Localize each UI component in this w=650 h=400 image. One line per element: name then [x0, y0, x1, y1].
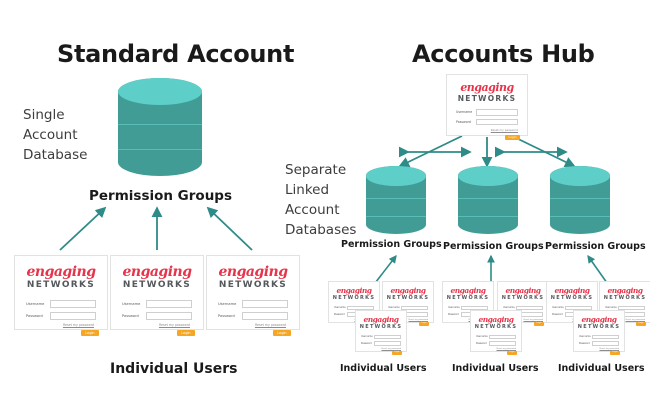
logo-engaging: engaging: [26, 265, 95, 279]
username-label: Username: [605, 306, 618, 309]
arrow-left-users-to-groups: [60, 208, 252, 250]
logo-networks: NETWORKS: [333, 296, 376, 301]
username-label: Username: [122, 302, 146, 306]
password-label: Password: [361, 342, 374, 345]
logo-networks: NETWORKS: [27, 281, 95, 290]
username-label: Username: [334, 306, 347, 309]
database-cylinder-hub: [550, 166, 610, 234]
login-form: Username Password Reset my password: [215, 300, 291, 327]
username-input[interactable]: [146, 300, 192, 308]
cylinder-band: [458, 198, 518, 199]
logo-networks: NETWORKS: [123, 281, 191, 290]
logo-networks: NETWORKS: [551, 296, 594, 301]
username-label: Username: [456, 110, 476, 114]
password-input[interactable]: [592, 341, 619, 346]
logo-engaging: engaging: [122, 265, 191, 279]
hub-login-card[interactable]: engaging NETWORKS Username Password Rese…: [446, 74, 528, 136]
logo-networks: NETWORKS: [458, 95, 517, 103]
logo-engaging: engaging: [505, 287, 540, 295]
password-label: Password: [552, 313, 565, 316]
reset-password-link[interactable]: Reset my password: [26, 323, 96, 327]
username-row: Username: [218, 300, 288, 308]
password-input[interactable]: [146, 312, 192, 320]
login-button[interactable]: Login: [177, 330, 195, 336]
login-form: Username Password Reset my password: [119, 300, 195, 327]
diagram-canvas: Standard Account Accounts Hub Single Acc…: [0, 0, 650, 400]
cylinder-band: [366, 216, 426, 217]
login-card[interactable]: engaging NETWORKS Username Password Rese…: [206, 255, 300, 330]
username-input[interactable]: [592, 335, 619, 340]
logo-engaging: engaging: [478, 316, 513, 324]
password-label: Password: [218, 314, 242, 318]
reset-password-link[interactable]: Reset my password: [218, 323, 288, 327]
logo-engaging: engaging: [363, 316, 398, 324]
label-individual-users-2: Individual Users: [452, 363, 539, 374]
login-form: Username Password Reset my password: [454, 109, 520, 132]
username-row: Username: [456, 109, 518, 116]
password-label: Password: [122, 314, 146, 318]
login-form: Username Password Reset my password: [578, 335, 620, 350]
label-individual-users-3: Individual Users: [558, 363, 645, 374]
cylinder-band: [458, 216, 518, 217]
username-input[interactable]: [242, 300, 288, 308]
page-title-standard-account: Standard Account: [57, 40, 294, 68]
cylinder-top: [550, 166, 610, 186]
reset-password-link[interactable]: Reset my password: [456, 128, 518, 132]
logo-networks: NETWORKS: [475, 325, 518, 330]
login-card[interactable]: engaging NETWORKS Username Password Rese…: [355, 310, 407, 352]
password-input[interactable]: [476, 119, 518, 126]
login-form: Username Password Reset my password: [360, 335, 402, 350]
login-form: Username Password Reset my password: [475, 335, 517, 350]
login-card[interactable]: engaging NETWORKS Username Password Rese…: [573, 310, 625, 352]
login-button[interactable]: Login: [507, 351, 517, 355]
username-label: Username: [361, 335, 374, 338]
username-label: Username: [579, 335, 592, 338]
password-row: Password: [122, 312, 192, 320]
username-input[interactable]: [50, 300, 96, 308]
database-cylinder-hub: [366, 166, 426, 234]
cylinder-band: [118, 124, 202, 125]
password-label: Password: [334, 313, 347, 316]
username-input[interactable]: [476, 109, 518, 116]
label-permission-groups-3: Permission Groups: [545, 241, 646, 252]
reset-password-link[interactable]: Reset my password: [579, 348, 619, 350]
database-cylinder-hub: [458, 166, 518, 234]
label-single-account-database: Single Account Database: [23, 105, 87, 165]
login-button[interactable]: Login: [273, 330, 291, 336]
cylinder-top: [458, 166, 518, 186]
password-label: Password: [579, 342, 592, 345]
logo-networks: NETWORKS: [387, 296, 430, 301]
username-label: Username: [552, 306, 565, 309]
logo-engaging: engaging: [554, 287, 589, 295]
logo-engaging: engaging: [390, 287, 425, 295]
password-row: Password: [456, 119, 518, 126]
login-button[interactable]: Login: [610, 351, 620, 355]
label-permission-groups-2: Permission Groups: [443, 241, 544, 252]
password-label: Password: [476, 342, 489, 345]
logo-networks: NETWORKS: [447, 296, 490, 301]
password-input[interactable]: [374, 341, 401, 346]
reset-password-link[interactable]: Reset my password: [476, 348, 516, 350]
label-separate-linked-account-databases: Separate Linked Account Databases: [285, 160, 356, 240]
logo-engaging: engaging: [581, 316, 616, 324]
logo-engaging: engaging: [336, 287, 371, 295]
logo-engaging: engaging: [450, 287, 485, 295]
password-row: Password: [218, 312, 288, 320]
logo-engaging: engaging: [607, 287, 642, 295]
password-label: Password: [26, 314, 50, 318]
label-permission-groups-1: Permission Groups: [341, 239, 442, 250]
reset-password-link[interactable]: Reset my password: [361, 348, 401, 350]
login-button[interactable]: Login: [392, 351, 402, 355]
password-row: Password: [579, 341, 619, 346]
username-label: Username: [26, 302, 50, 306]
label-permission-groups-standard: Permission Groups: [89, 188, 232, 204]
reset-password-link[interactable]: Reset my password: [122, 323, 192, 327]
login-button[interactable]: Login: [534, 322, 544, 326]
password-input[interactable]: [489, 341, 516, 346]
cylinder-band: [118, 149, 202, 150]
login-button[interactable]: Login: [505, 135, 520, 140]
login-form: Username Password Reset my password: [23, 300, 99, 327]
username-input[interactable]: [374, 335, 401, 340]
login-button[interactable]: Login: [419, 322, 429, 326]
label-individual-users-1: Individual Users: [340, 363, 427, 374]
password-row: Password: [476, 341, 516, 346]
username-label: Username: [503, 306, 516, 309]
username-row: Username: [579, 335, 619, 340]
login-card[interactable]: engaging NETWORKS Username Password Rese…: [14, 255, 108, 330]
username-row: Username: [26, 300, 96, 308]
login-button[interactable]: Login: [636, 322, 646, 326]
username-label: Username: [388, 306, 401, 309]
database-cylinder-standard: [118, 78, 202, 176]
login-card[interactable]: engaging NETWORKS Username Password Rese…: [470, 310, 522, 352]
login-button[interactable]: Login: [81, 330, 99, 336]
username-row: Username: [476, 335, 516, 340]
username-label: Username: [218, 302, 242, 306]
cylinder-band: [366, 198, 426, 199]
login-card[interactable]: engaging NETWORKS Username Password Rese…: [110, 255, 204, 330]
logo-networks: NETWORKS: [604, 296, 647, 301]
logo-engaging: engaging: [460, 82, 513, 93]
logo-networks: NETWORKS: [502, 296, 545, 301]
password-input[interactable]: [50, 312, 96, 320]
username-row: Username: [122, 300, 192, 308]
password-label: Password: [448, 313, 461, 316]
password-input[interactable]: [242, 312, 288, 320]
cylinder-top: [366, 166, 426, 186]
logo-networks: NETWORKS: [578, 325, 621, 330]
label-individual-users-standard: Individual Users: [110, 361, 237, 377]
logo-networks: NETWORKS: [360, 325, 403, 330]
password-row: Password: [26, 312, 96, 320]
logo-engaging: engaging: [218, 265, 287, 279]
username-label: Username: [476, 335, 489, 338]
username-label: Username: [448, 306, 461, 309]
password-label: Password: [456, 120, 476, 124]
username-row: Username: [361, 335, 401, 340]
arrow-hub-to-databases: [400, 136, 574, 166]
cylinder-top: [118, 78, 202, 105]
username-input[interactable]: [489, 335, 516, 340]
cylinder-band: [550, 198, 610, 199]
page-title-accounts-hub: Accounts Hub: [412, 40, 595, 68]
cylinder-band: [550, 216, 610, 217]
password-row: Password: [361, 341, 401, 346]
logo-networks: NETWORKS: [219, 281, 287, 290]
